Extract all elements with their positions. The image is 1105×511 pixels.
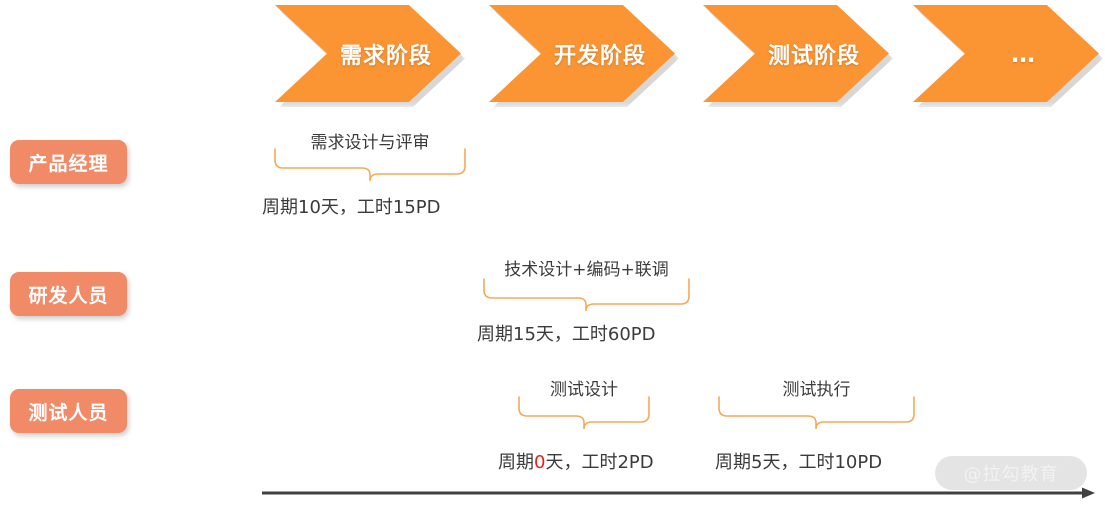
role-badge-label: 研发人员: [28, 281, 108, 308]
watermark: @拉勾教育: [935, 456, 1087, 490]
duration-days: 10: [298, 197, 321, 218]
task-brace: [483, 278, 690, 312]
phase-label: 测试阶段: [768, 38, 860, 70]
phase-label: …: [1011, 40, 1037, 68]
task-title: 技术设计+编码+联调: [483, 255, 690, 280]
role-badge-label: 产品经理: [28, 149, 108, 176]
duration-prefix: 周期: [498, 452, 534, 473]
duration-prefix: 周期: [715, 452, 751, 473]
task-brace: [718, 396, 915, 430]
task-duration: 周期10天，工时15PD: [262, 193, 441, 219]
duration-suffix: 天，工时2PD: [545, 452, 653, 473]
task-duration: 周期15天，工时60PD: [477, 320, 656, 346]
duration-suffix: 天，工时10PD: [762, 452, 882, 473]
phase-label: 需求阶段: [340, 38, 432, 70]
task-brace: [518, 396, 650, 430]
watermark-label: @拉勾教育: [964, 460, 1059, 486]
phase-label: 开发阶段: [554, 38, 646, 70]
duration-suffix: 天，工时60PD: [536, 324, 656, 345]
duration-days: 5: [751, 452, 762, 473]
task-brace: [274, 148, 466, 182]
duration-days: 0: [534, 452, 545, 473]
task-duration: 周期5天，工时10PD: [715, 448, 882, 474]
role-badge-developer[interactable]: 研发人员: [10, 272, 127, 316]
duration-suffix: 天，工时15PD: [321, 197, 441, 218]
duration-prefix: 周期: [262, 197, 298, 218]
role-badge-label: 测试人员: [28, 398, 108, 425]
role-badge-product-manager[interactable]: 产品经理: [10, 140, 127, 184]
duration-prefix: 周期: [477, 324, 513, 345]
duration-days: 15: [513, 324, 536, 345]
task-duration: 周期0天，工时2PD: [498, 448, 654, 474]
role-badge-tester[interactable]: 测试人员: [10, 389, 127, 433]
